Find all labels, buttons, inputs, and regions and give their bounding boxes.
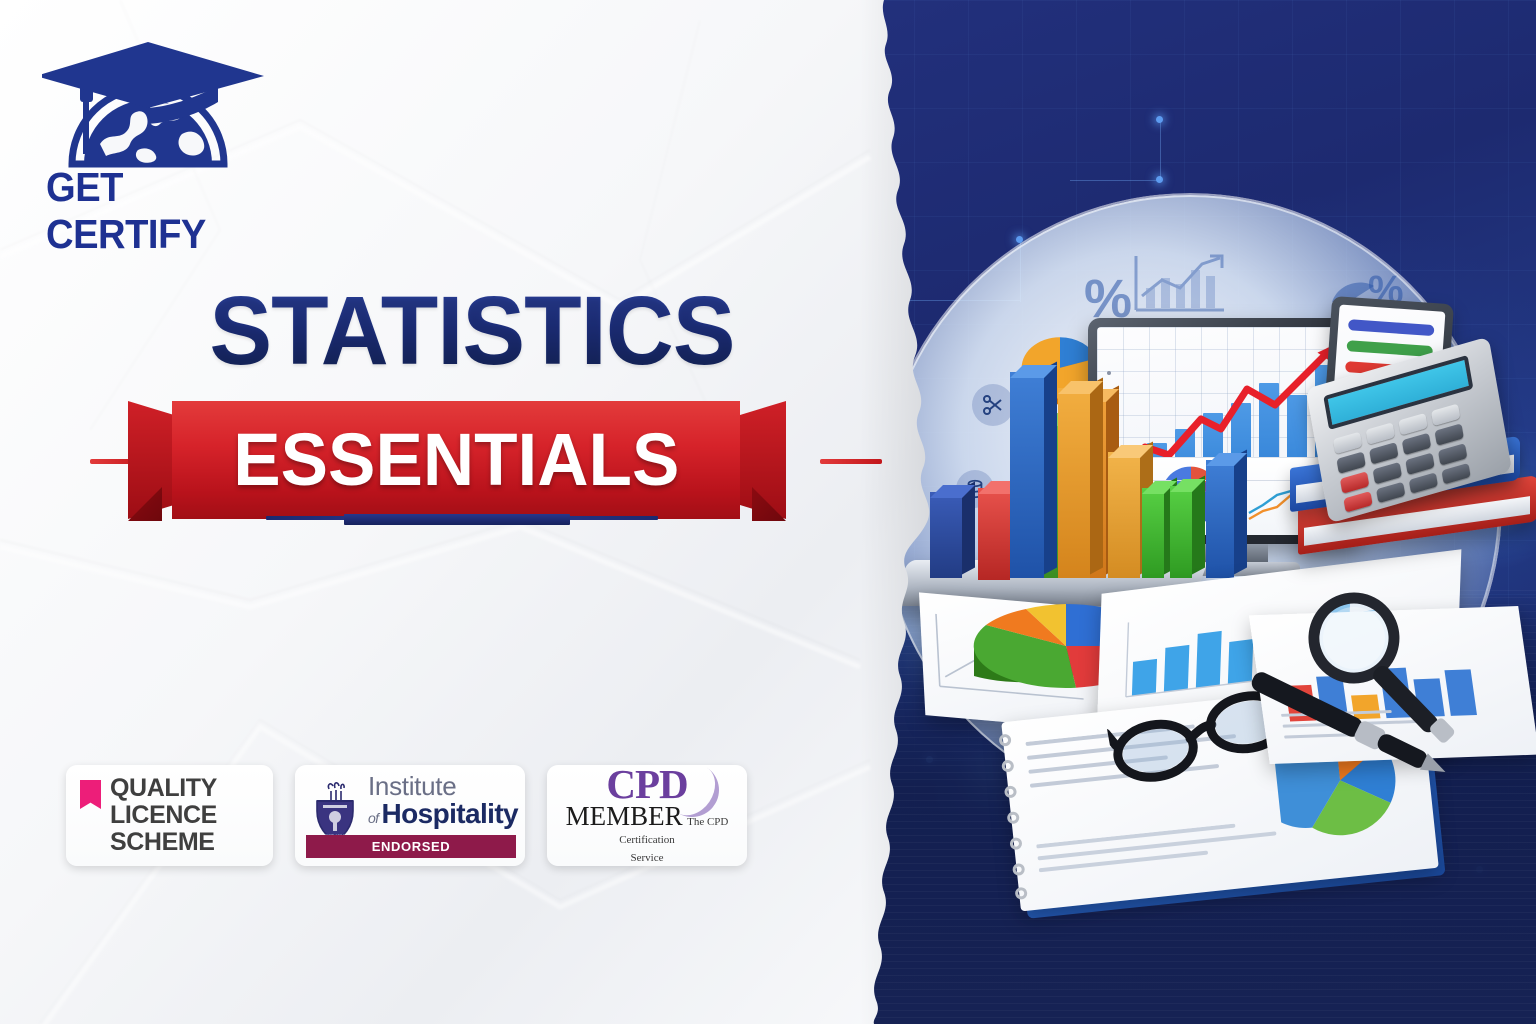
badge-qls-line1: QUALITY <box>110 774 217 802</box>
badge-ioh-ribbon: ENDORSED <box>306 835 516 858</box>
badge-ioh-line2-wrap: ofHospitality <box>368 799 518 828</box>
badge-institute-of-hospitality[interactable]: EST 1938 Institute ofHospitality ENDORSE… <box>295 765 525 866</box>
chart-up-icon <box>1132 250 1228 319</box>
badge-cpd-sub2: Service <box>631 852 664 864</box>
badge-ioh-of: of <box>368 811 378 826</box>
title-ribbon: ESSENTIALS <box>172 401 740 519</box>
badge-ioh-text: Institute ofHospitality ENDORSED <box>368 773 518 857</box>
title-block: STATISTICS ESSENTIALS <box>92 282 852 527</box>
badge-quality-licence-scheme[interactable]: QUALITY LICENCE SCHEME <box>66 765 273 866</box>
badge-qls-line3: SCHEME <box>110 828 215 856</box>
badge-ioh-line2: Hospitality <box>381 799 518 828</box>
badge-ioh-line1: Institute <box>368 773 518 799</box>
accreditation-badges: QUALITY LICENCE SCHEME <box>66 765 747 866</box>
page-title: STATISTICS <box>103 282 840 379</box>
ribbon-dash-right <box>820 459 882 464</box>
ribbon-row: ESSENTIALS <box>92 395 852 527</box>
badge-qls-line2: LICENCE <box>110 801 217 829</box>
brand-name: GET CERTIFY <box>46 164 262 258</box>
badge-qls-text: QUALITY LICENCE SCHEME <box>110 775 217 855</box>
badge-cpd-member[interactable]: CPD MEMBER The CPD Certification Service <box>547 765 747 866</box>
page-subtitle: ESSENTIALS <box>233 423 679 497</box>
badge-cpd-text: CPD MEMBER The CPD Certification Service <box>561 765 733 867</box>
banner-canvas: % % <box>0 0 1536 1024</box>
badge-cpd-mid: MEMBER <box>566 801 683 831</box>
bookmark-icon <box>80 780 101 809</box>
title-divider-center <box>344 514 570 525</box>
graduation-cap-globe-icon <box>42 36 272 176</box>
brand-logo[interactable]: GET CERTIFY <box>42 36 282 211</box>
